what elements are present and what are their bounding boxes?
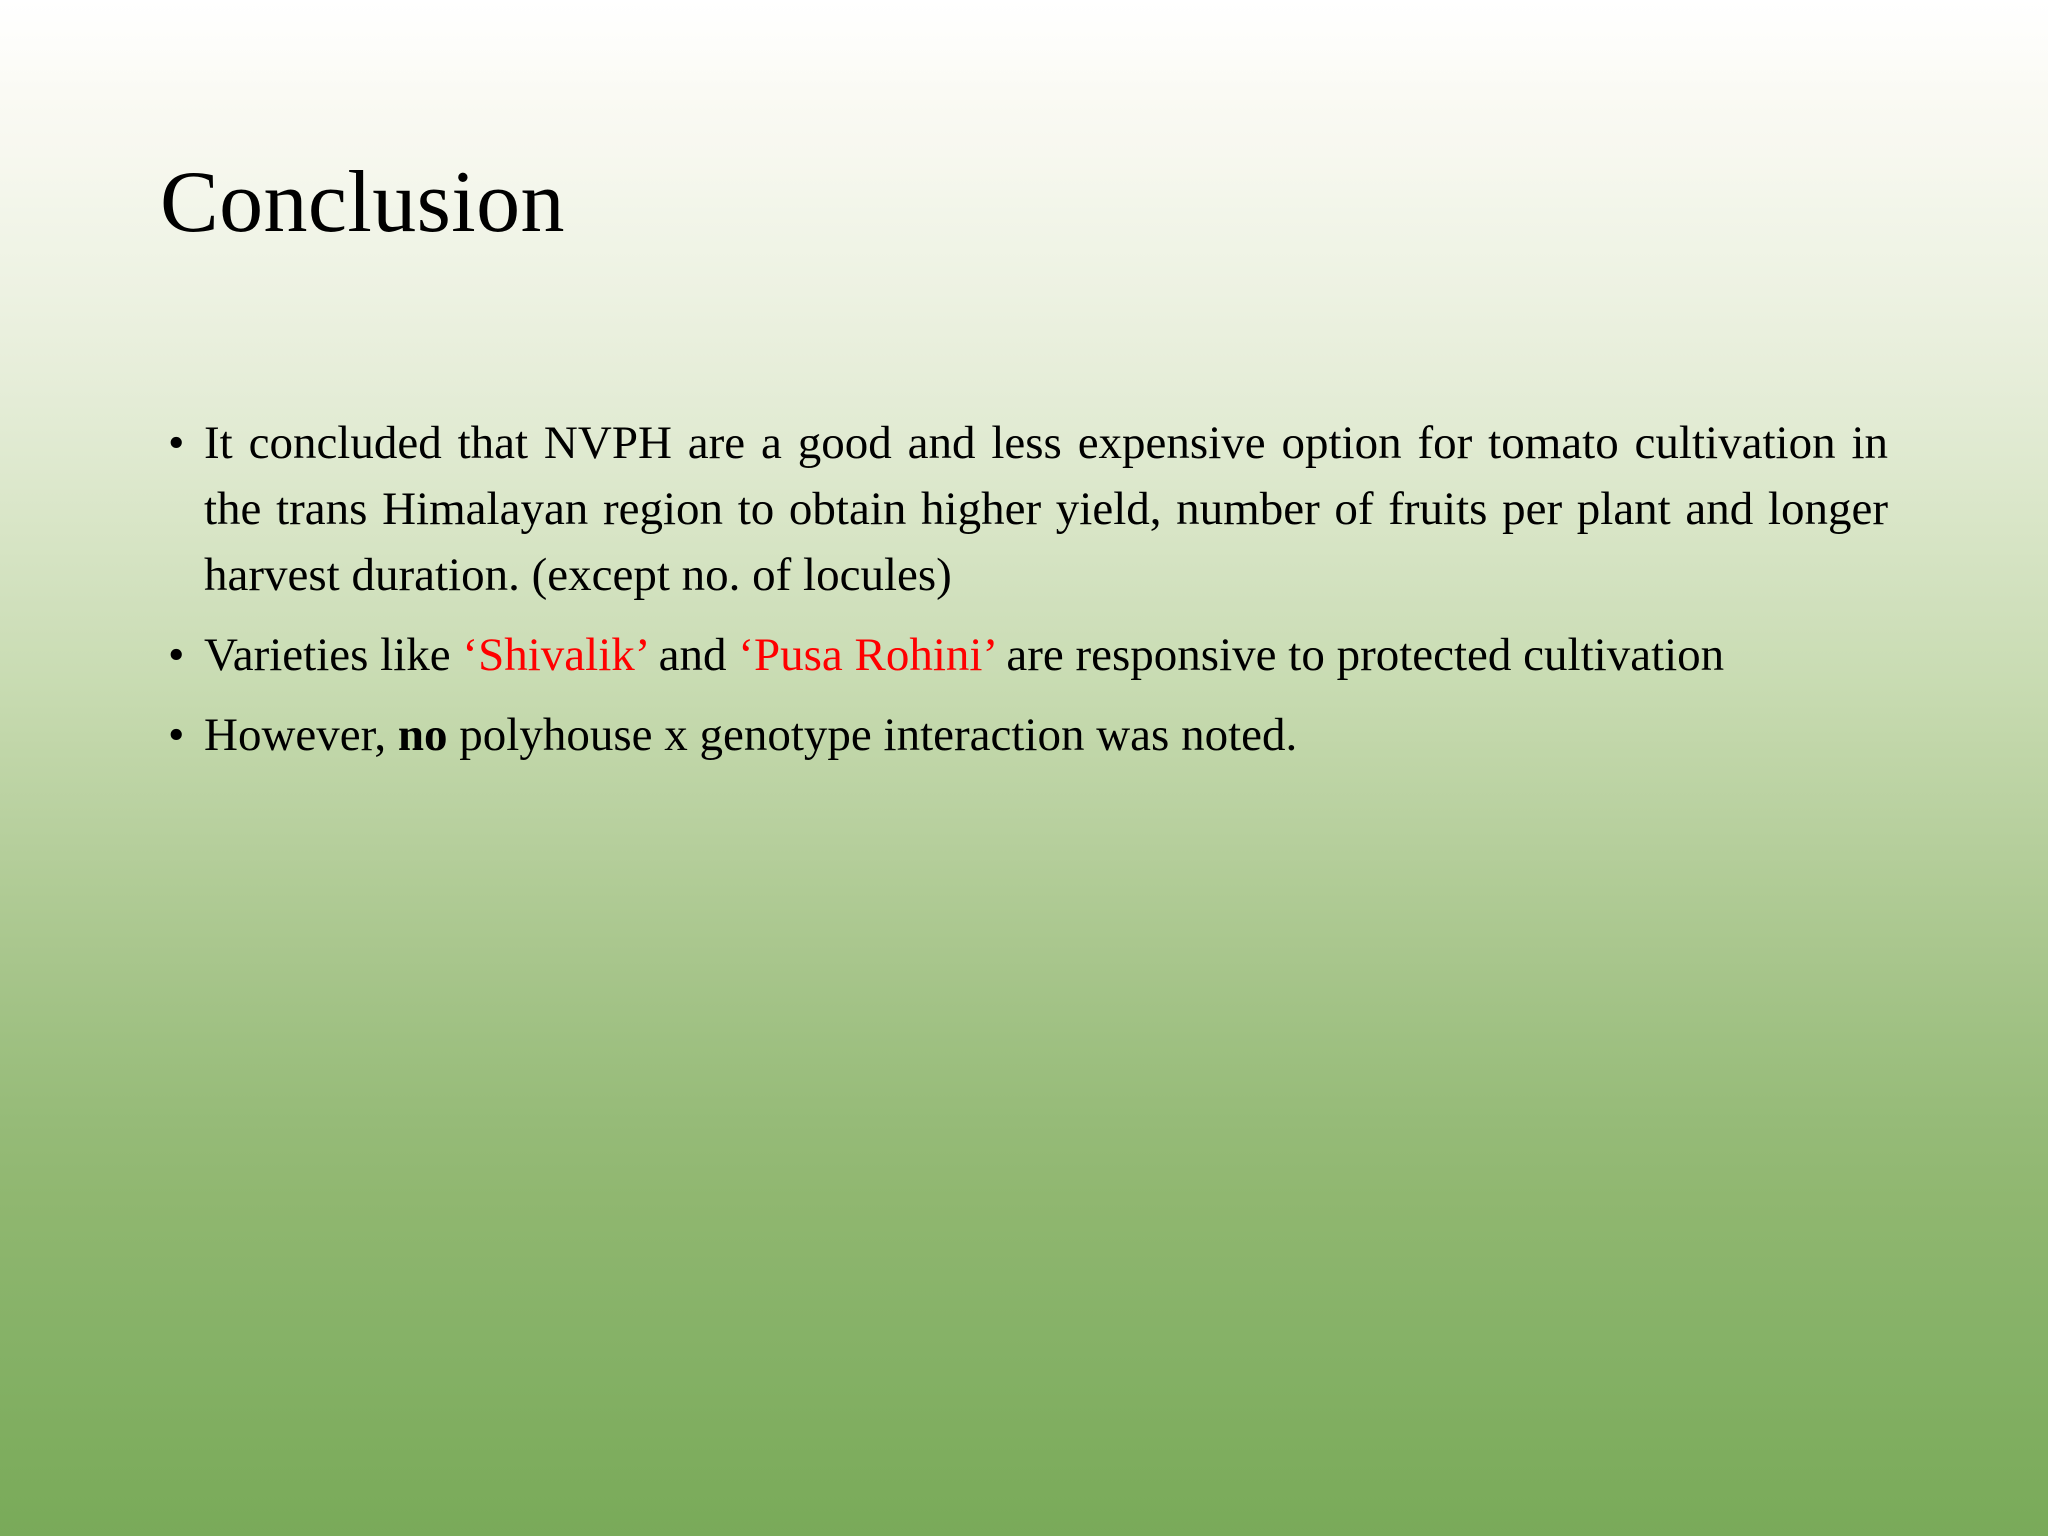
bullet-dot-icon: •	[168, 622, 184, 688]
bullet-dot-icon: •	[168, 410, 184, 476]
page-title: Conclusion	[160, 156, 1880, 249]
list-item[interactable]: • Varieties like ‘Shivalik’ and ‘Pusa Ro…	[162, 622, 1888, 688]
bullet-2-conjunction: and	[647, 629, 738, 681]
bullet-list: • It concluded that NVPH are a good and …	[162, 410, 1888, 768]
bullet-2-text: Varieties like ‘Shivalik’ and ‘Pusa Rohi…	[204, 622, 1888, 688]
bullet-3-lead: However,	[204, 709, 398, 761]
variety-name-pusa-rohini: ‘Pusa Rohini’	[738, 629, 994, 681]
bullet-2-tail: are responsive to protected cultivation	[995, 629, 1725, 681]
list-item[interactable]: • However, no polyhouse x genotype inter…	[162, 702, 1888, 768]
bullet-2-lead: Varieties like	[204, 629, 462, 681]
variety-name-shivalik: ‘Shivalik’	[462, 629, 647, 681]
bullet-3-text: However, no polyhouse x genotype interac…	[204, 702, 1888, 768]
title-block: Conclusion	[160, 156, 1880, 249]
list-item[interactable]: • It concluded that NVPH are a good and …	[162, 410, 1888, 608]
bullet-1-text: It concluded that NVPH are a good and le…	[204, 410, 1888, 608]
slide-canvas: Conclusion • It concluded that NVPH are …	[0, 0, 2048, 1536]
bullet-dot-icon: •	[168, 702, 184, 768]
bullet-3-tail: polyhouse x genotype interaction was not…	[448, 709, 1298, 761]
body-content: • It concluded that NVPH are a good and …	[162, 410, 1888, 768]
bullet-3-emphasis: no	[398, 709, 448, 761]
